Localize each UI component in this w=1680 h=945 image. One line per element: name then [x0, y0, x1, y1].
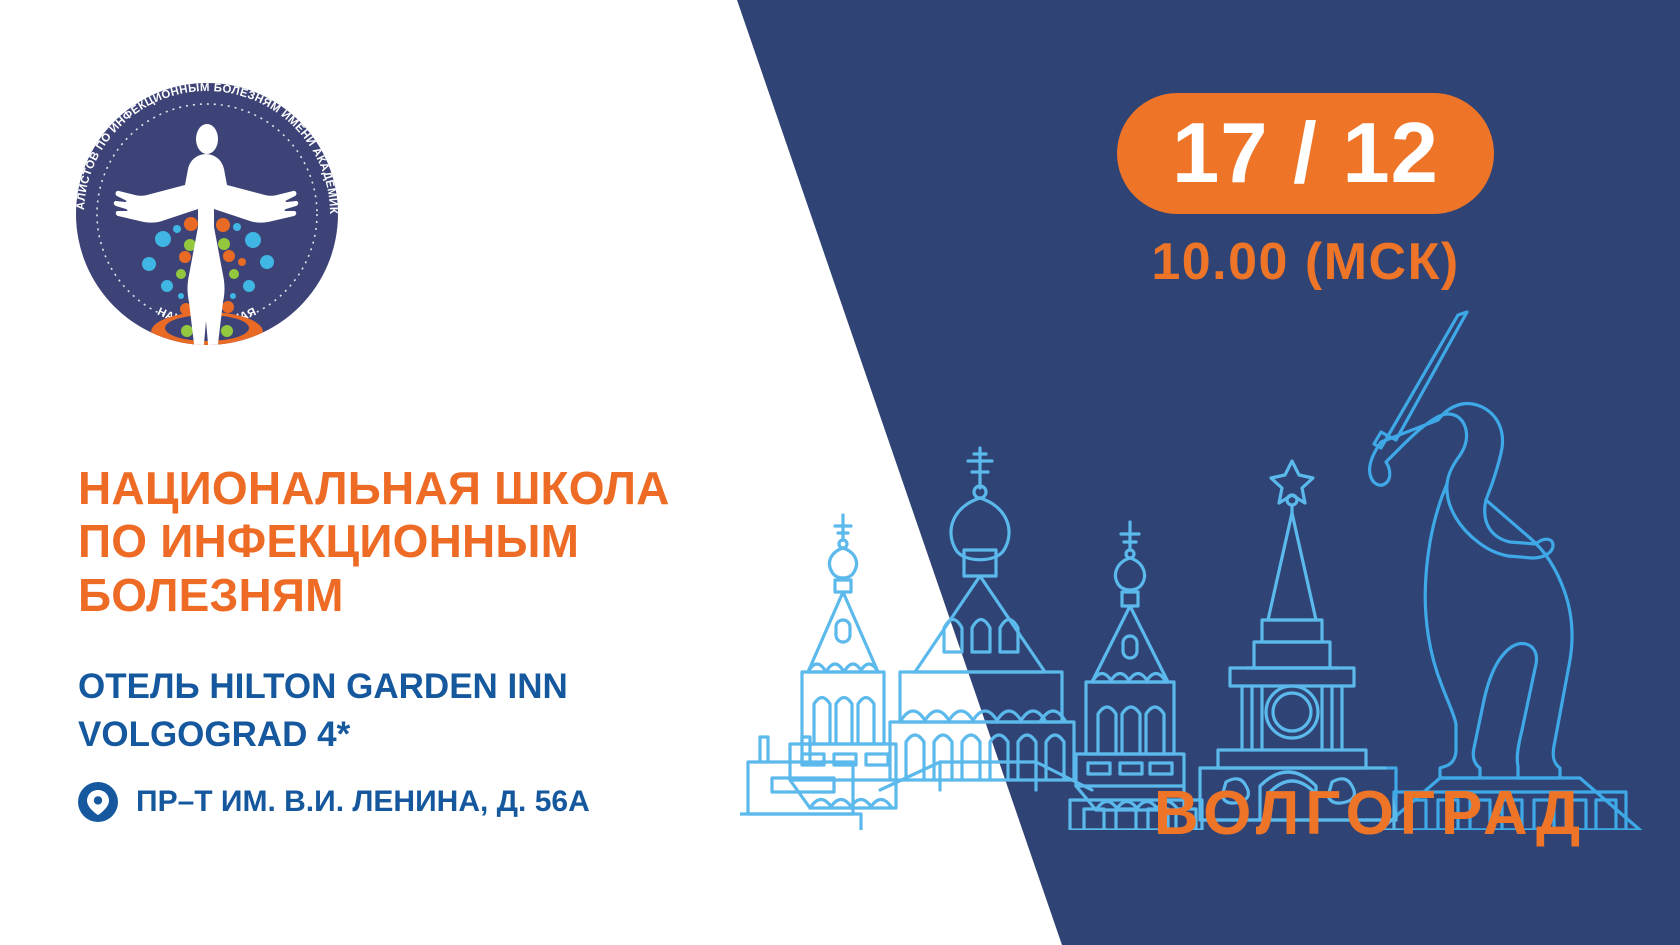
event-time: 10.00 (МСК)	[1117, 232, 1494, 292]
event-date-badge: 17 / 12	[1117, 93, 1494, 214]
event-title: НАЦИОНАЛЬНАЯ ШКОЛА ПО ИНФЕКЦИОННЫМ БОЛЕЗ…	[78, 462, 718, 622]
event-poster: АССОЦИАЦИЯ СПЕЦИАЛИСТОВ ПО ИНФЕКЦИОННЫМ …	[0, 0, 1680, 945]
title-line-1: НАЦИОНАЛЬНАЯ ШКОЛА	[78, 462, 718, 515]
venue-line-2: VOLGOGRAD 4*	[78, 711, 718, 759]
event-city: ВОЛГОГРАД	[1090, 778, 1650, 849]
event-date: 17 / 12	[1172, 111, 1439, 196]
venue-address-row: ПР–Т ИМ. В.И. ЛЕНИНА, Д. 56А	[78, 782, 590, 822]
title-line-3: БОЛЕЗНЯМ	[78, 569, 718, 622]
association-logo: АССОЦИАЦИЯ СПЕЦИАЛИСТОВ ПО ИНФЕКЦИОННЫМ …	[57, 64, 357, 364]
venue-address: ПР–Т ИМ. В.И. ЛЕНИНА, Д. 56А	[136, 785, 590, 819]
title-line-2: ПО ИНФЕКЦИОННЫМ	[78, 515, 718, 568]
venue-name: ОТЕЛЬ HILTON GARDEN INN VOLGOGRAD 4*	[78, 663, 718, 758]
venue-line-1: ОТЕЛЬ HILTON GARDEN INN	[78, 663, 718, 711]
location-pin-icon	[78, 782, 118, 822]
